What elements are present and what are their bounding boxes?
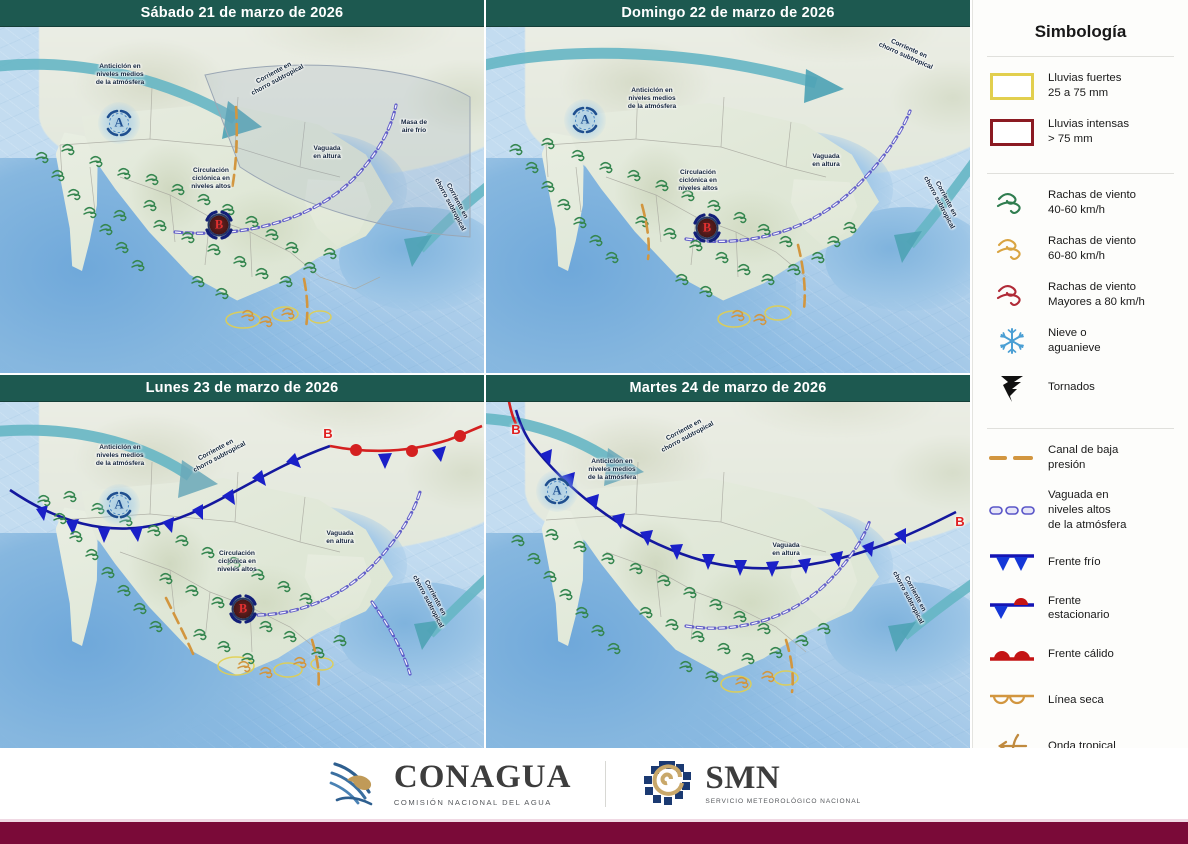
conagua-subtitle: COMISIÓN NACIONAL DEL AGUA [394,798,572,807]
panel-title-sunday: Domingo 22 de marzo de 2026 [486,0,970,27]
legend-item-tornado[interactable]: Tornados [973,364,1188,410]
cold-front-icon [987,546,1037,578]
legend-group-hazards: Rachas de viento 40-60 km/h Rachas de vi… [973,174,1188,414]
legend-label: Tornados [1048,380,1095,395]
cyclone-letter: B [234,600,253,619]
label-cyclonic-monday: Circulación ciclónica en niveles altos [196,550,278,574]
forecast-panel-saturday[interactable]: Sábado 21 de marzo de 2026 [0,0,484,373]
legend-item-heavy-rain[interactable]: Lluvias fuertes 25 a 75 mm [973,63,1188,109]
label-trough-monday: Vaguada en altura [312,530,368,546]
panel-title-tuesday: Martes 24 de marzo de 2026 [486,375,970,402]
legend-item-intense-rain[interactable]: Lluvias intensas > 75 mm [973,109,1188,155]
legend-label: Frente estacionario [1048,594,1109,624]
anticyclone-letter: A [548,482,567,501]
legend-title: Simbología [973,22,1188,42]
footer-logos: CONAGUA COMISIÓN NACIONAL DEL AGUA [0,748,1188,820]
label-trough-sunday: Vaguada en altura [798,153,854,169]
anticyclone-letter: A [576,111,595,130]
stationary-front-icon [987,592,1037,624]
label-front-low2-tuesday: B [952,514,968,530]
smn-brand: SMN Servicio Meteorológico Nacional [640,759,861,809]
label-trough-saturday: Vaguada en altura [298,145,356,161]
map-sunday[interactable]: A B Anticiclón en niveles medios de la a… [486,27,970,373]
conagua-logo-icon [327,758,383,810]
map-monday[interactable]: A B B Anticiclón en niveles medi [0,402,484,748]
label-cold-air-mass-saturday: Masa de aire frío [388,119,440,135]
wind-gust-red-icon [987,279,1037,311]
label-trough-tuesday: Vaguada en altura [758,542,814,558]
low-pressure-channel-icon [987,442,1037,474]
snowflake-icon [987,325,1037,357]
anticyclone-marker-saturday: A [98,102,140,144]
footer-divider [605,761,606,807]
label-cyclonic-sunday: Circulación ciclónica en niveles altos [658,169,738,193]
legend-item-wind-over-80[interactable]: Rachas de viento Mayores a 80 km/h [973,272,1188,318]
legend-label: Rachas de viento Mayores a 80 km/h [1048,280,1145,310]
forecast-panel-monday[interactable]: Lunes 23 de marzo de 2026 [0,375,484,748]
legend-item-stationary-front[interactable]: Frente estacionario [973,585,1188,631]
legend-label: Rachas de viento 40-60 km/h [1048,188,1136,218]
legend-item-wind-40-60[interactable]: Rachas de viento 40-60 km/h [973,180,1188,226]
legend-label: Lluvias fuertes 25 a 75 mm [1048,71,1121,101]
cyclone-letter: B [698,219,717,238]
conagua-brand: CONAGUA COMISIÓN NACIONAL DEL AGUA [327,758,572,810]
panel-title-monday: Lunes 23 de marzo de 2026 [0,375,484,402]
legend-item-dry-line[interactable]: Línea seca [973,677,1188,723]
legend-label: Línea seca [1048,693,1104,708]
upper-trough-icon [987,494,1037,526]
map-tuesday[interactable]: A B B Anticiclón en niveles medios de la… [486,402,970,748]
cyclone-letter: B [210,216,229,235]
legend-group-rain: Lluvias fuertes 25 a 75 mm Lluvias inten… [973,57,1188,159]
smn-subtitle: Servicio Meteorológico Nacional [705,798,861,807]
legend-item-warm-front[interactable]: Frente cálido [973,631,1188,677]
cyclonic-marker-saturday: B [198,204,240,246]
label-anticyclone-saturday: Anticiclón en niveles medios de la atmós… [78,63,162,87]
smn-text: SMN Servicio Meteorológico Nacional [705,762,861,807]
bottom-color-band [0,822,1188,844]
wind-gust-orange-icon [987,233,1037,265]
weather-forecast-infographic: Sábado 21 de marzo de 2026 [0,0,1188,844]
legend-label: Canal de baja presión [1048,443,1118,473]
label-anticyclone-sunday: Anticiclón en niveles medios de la atmós… [610,87,694,111]
tornado-icon [987,371,1037,403]
legend-sidebar: Simbología Lluvias fuertes 25 a 75 mm Ll… [972,0,1188,748]
legend-item-wind-60-80[interactable]: Rachas de viento 60-80 km/h [973,226,1188,272]
map-saturday[interactable]: A B Anticiclón en niveles medios de la a… [0,27,484,373]
legend-label: Frente cálido [1048,647,1114,662]
dry-line-icon [987,684,1037,716]
panel-title-saturday: Sábado 21 de marzo de 2026 [0,0,484,27]
anticyclone-marker-sunday: A [564,99,606,141]
anticyclone-marker-monday: A [98,484,140,526]
legend-item-upper-trough[interactable]: Vaguada en niveles altos de la atmósfera [973,481,1188,539]
legend-label: Frente frío [1048,555,1101,570]
conagua-name: CONAGUA [394,761,572,794]
legend-label: Lluvias intensas > 75 mm [1048,117,1129,147]
legend-group-fronts: Canal de baja presión Vaguada en niveles… [973,429,1188,773]
label-anticyclone-tuesday: Anticiclón en niveles medios de la atmós… [570,458,654,482]
forecast-panel-grid: Sábado 21 de marzo de 2026 [0,0,970,748]
label-front-low-monday: B [320,426,336,442]
label-anticyclone-monday: Anticiclón en niveles medios de la atmós… [78,444,162,468]
forecast-panel-tuesday[interactable]: Martes 24 de marzo de 2026 [486,375,970,748]
smn-name: SMN [705,762,861,795]
label-front-low-tuesday: B [508,422,524,438]
cyclonic-marker-monday: B [222,588,264,630]
legend-item-cold-front[interactable]: Frente frío [973,539,1188,585]
conagua-text: CONAGUA COMISIÓN NACIONAL DEL AGUA [394,761,572,807]
smn-logo-icon [640,759,694,809]
warm-front-icon [987,638,1037,670]
legend-label: Nieve o aguanieve [1048,326,1101,356]
rain-box-yellow-icon [987,70,1037,102]
cyclonic-marker-sunday: B [686,207,728,249]
label-cyclonic-saturday: Circulación ciclónica en niveles altos [170,167,252,191]
legend-item-low-pressure-channel[interactable]: Canal de baja presión [973,435,1188,481]
legend-item-snow[interactable]: Nieve o aguanieve [973,318,1188,364]
anticyclone-letter: A [110,114,129,133]
legend-label: Vaguada en niveles altos de la atmósfera [1048,488,1127,532]
legend-label: Rachas de viento 60-80 km/h [1048,234,1136,264]
rain-box-red-icon [987,116,1037,148]
forecast-panel-sunday[interactable]: Domingo 22 de marzo de 2026 [486,0,970,373]
anticyclone-letter: A [110,496,129,515]
wind-gust-green-icon [987,187,1037,219]
